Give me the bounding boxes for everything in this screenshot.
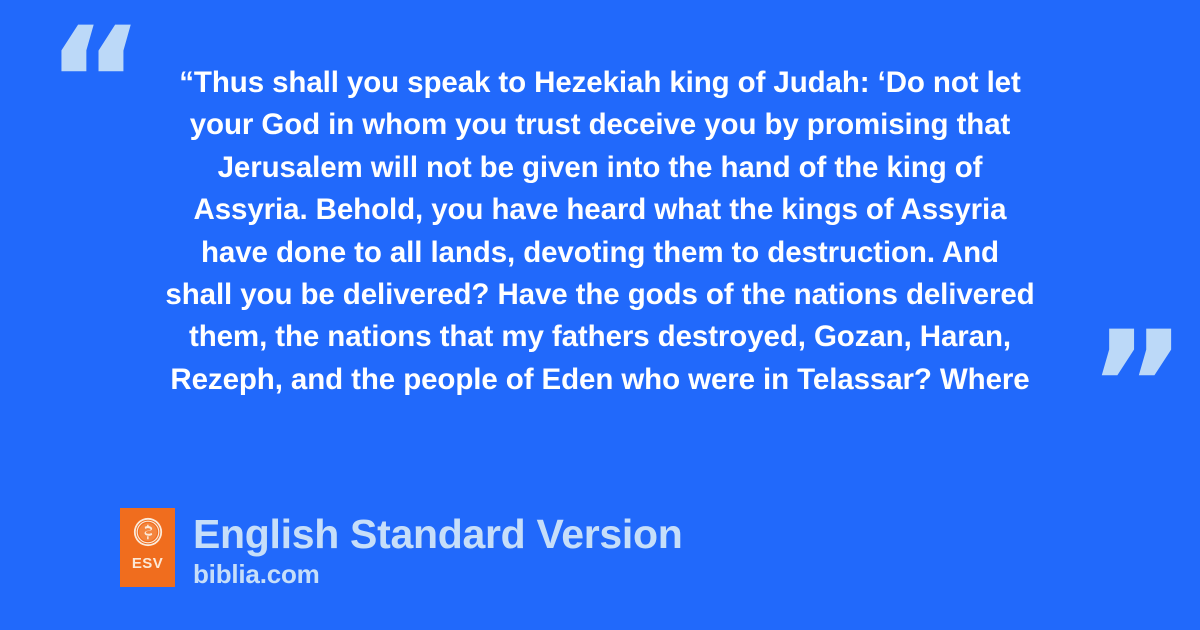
verse-line: “Thus shall you speak to Hezekiah king o…: [105, 62, 1095, 104]
attribution: ESV English Standard Version biblia.com: [120, 508, 682, 589]
esv-badge: ESV: [120, 508, 175, 587]
esv-seal-icon: [133, 517, 163, 547]
verse-text-block: “Thus shall you speak to Hezekiah king o…: [105, 62, 1095, 401]
verse-line: Jerusalem will not be given into the han…: [105, 147, 1095, 189]
verse-line: Rezeph, and the people of Eden who were …: [105, 359, 1095, 401]
bible-version-name: English Standard Version: [193, 510, 682, 558]
closing-quote-icon: ”: [1088, 312, 1183, 462]
verse-line: have done to all lands, devoting them to…: [105, 232, 1095, 274]
verse-line: Assyria. Behold, you have heard what the…: [105, 189, 1095, 231]
esv-badge-label: ESV: [132, 556, 163, 571]
attribution-text: English Standard Version biblia.com: [193, 508, 682, 589]
bible-verse-card: “ ” “Thus shall you speak to Hezekiah ki…: [0, 0, 1200, 630]
site-name: biblia.com: [193, 559, 682, 589]
verse-line: shall you be delivered? Have the gods of…: [105, 274, 1095, 316]
verse-line: your God in whom you trust deceive you b…: [105, 104, 1095, 146]
verse-line: them, the nations that my fathers destro…: [105, 316, 1095, 358]
